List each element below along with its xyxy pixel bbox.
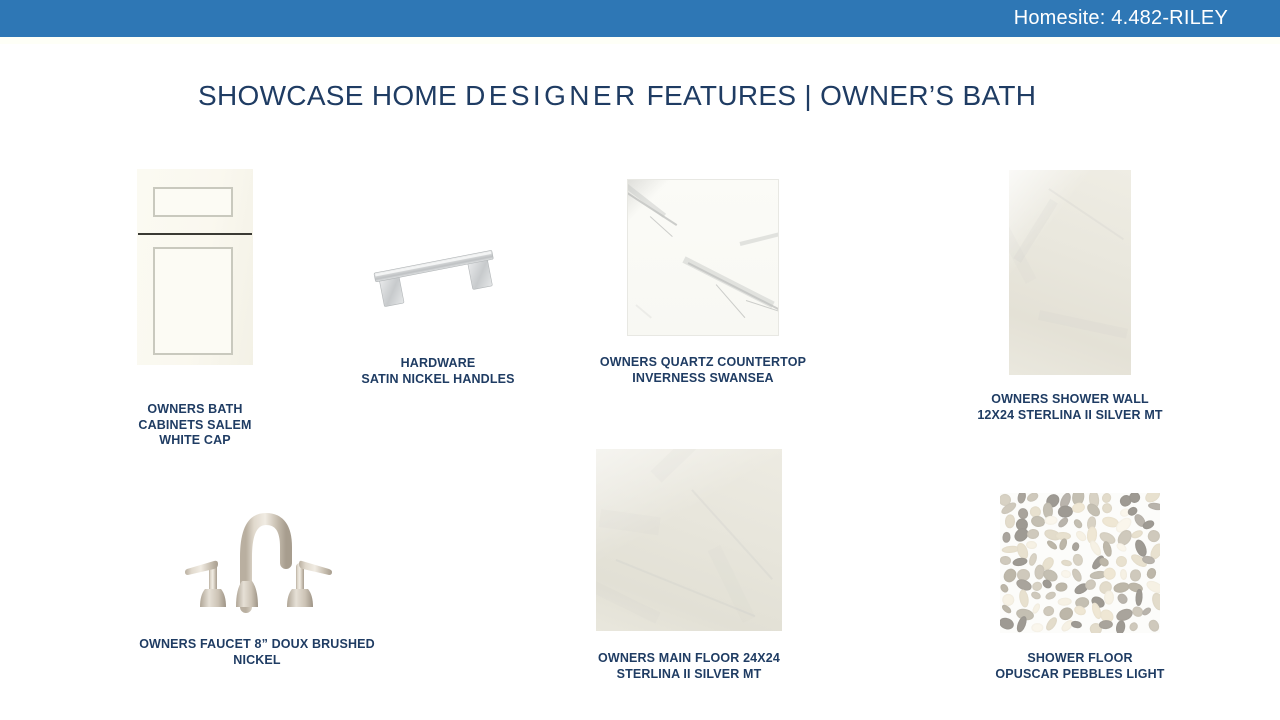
pebble-stone [1102, 565, 1119, 582]
product-card-owners-quartz-countertop: OWNERS QUARTZ COUNTERTOP INVERNESS SWANS… [628, 180, 778, 386]
product-caption-shower-floor-pebbles: SHOWER FLOOR OPUSCAR PEBBLES LIGHT [962, 651, 1198, 682]
pebble-stone [1070, 567, 1083, 583]
pebble-stone [1060, 559, 1072, 567]
pebble-stone [1101, 502, 1113, 514]
pebble-stone [1147, 618, 1160, 633]
bar-pull-handle-icon [358, 228, 518, 328]
pebble-stone [1148, 502, 1160, 511]
page-title: SHOWCASE HOME DESIGNER FEATURES | OWNER’… [198, 80, 1036, 112]
pebble-stone [1001, 532, 1010, 543]
pebble-stone [1014, 615, 1028, 633]
pebble-stone [1072, 553, 1084, 567]
product-caption-hardware-handles: HARDWARE SATIN NICKEL HANDLES [356, 356, 520, 387]
page-title-part-designer: DESIGNER [465, 80, 638, 111]
product-caption-owners-shower-wall: OWNERS SHOWER WALL 12X24 STERLINA II SIL… [952, 392, 1188, 423]
pebble-stone [1000, 616, 1015, 632]
pebble-stone [1116, 592, 1130, 606]
cabinet-rail-line [138, 233, 252, 235]
product-card-owners-shower-wall: OWNERS SHOWER WALL 12X24 STERLINA II SIL… [1009, 170, 1131, 423]
product-caption-owners-faucet: OWNERS FAUCET 8” DOUX BRUSHED NICKEL [122, 637, 392, 668]
page-title-part-3: FEATURES | OWNER’S BATH [639, 80, 1037, 111]
pebble-stone [1074, 529, 1088, 543]
pebble-stone [1135, 588, 1143, 605]
pebble-stone [1070, 541, 1080, 552]
pebble-stone [1055, 582, 1068, 592]
pebble-stone [1071, 620, 1083, 629]
page-title-part-1: SHOWCASE HOME [198, 80, 465, 111]
homesite-label: Homesite: 4.482-RILEY [1014, 7, 1228, 30]
pebble-stone [1104, 591, 1114, 606]
cabinet-door-panel [153, 247, 233, 355]
pebble-stone [1026, 528, 1040, 540]
floor-tile-swatch-icon [596, 449, 782, 631]
pebble-stone [1114, 606, 1134, 623]
quartz-slab-swatch-icon [628, 180, 778, 335]
pebble-stone [1028, 552, 1038, 566]
pebble-stone [1129, 569, 1142, 582]
slide-canvas: Homesite: 4.482-RILEY SHOWCASE HOME DESI… [0, 0, 1280, 720]
wall-tile-swatch-icon [1009, 170, 1131, 375]
pebble-stone [1030, 515, 1046, 529]
pebble-stone [1018, 588, 1030, 607]
pebble-stone [1141, 606, 1152, 617]
pebble-stone [1128, 621, 1140, 633]
pebble-stone [1057, 597, 1071, 605]
pebble-stone [1044, 590, 1057, 601]
pebble-stone [1145, 567, 1157, 580]
pebble-mosaic-swatch-icon [1000, 493, 1160, 633]
pebble-stone [1016, 493, 1027, 505]
pebble-stone [1119, 568, 1127, 580]
pebble-stone [1030, 590, 1042, 600]
pebble-stone [1026, 493, 1040, 504]
pebble-stone [1057, 515, 1071, 529]
product-card-shower-floor-pebbles: SHOWER FLOOR OPUSCAR PEBBLES LIGHT [1000, 493, 1160, 682]
product-caption-owners-main-floor: OWNERS MAIN FLOOR 24X24 STERLINA II SILV… [574, 651, 804, 682]
pebble-stone [1000, 556, 1011, 566]
product-card-owners-bath-cabinets: OWNERS BATH CABINETS SALEM WHITE CAP [133, 169, 257, 449]
pebble-stone [1031, 623, 1043, 633]
pebble-stone [1004, 514, 1015, 528]
product-caption-owners-quartz-countertop: OWNERS QUARTZ COUNTERTOP INVERNESS SWANS… [588, 355, 818, 386]
pebble-stone [1146, 528, 1160, 544]
product-card-hardware-handles: HARDWARE SATIN NICKEL HANDLES [356, 228, 520, 387]
pebble-stone [1044, 615, 1059, 632]
pebble-stone [1000, 582, 1010, 593]
pebble-stone [1045, 539, 1058, 551]
header-accent-strip [0, 37, 1280, 44]
pebble-stone [1042, 605, 1055, 618]
product-card-owners-faucet: OWNERS FAUCET 8” DOUX BRUSHED NICKEL [172, 485, 342, 668]
cabinet-door-swatch-icon [137, 169, 253, 365]
pebble-stone [1130, 529, 1144, 540]
pebble-stone [1072, 517, 1084, 529]
pebble-stone [1012, 557, 1028, 567]
pebble-stone [1114, 554, 1128, 568]
pebble-stone [1116, 619, 1127, 633]
pebble-stone [1045, 515, 1058, 525]
product-caption-owners-bath-cabinets: OWNERS BATH CABINETS SALEM WHITE CAP [133, 402, 257, 449]
product-card-owners-main-floor: OWNERS MAIN FLOOR 24X24 STERLINA II SILV… [596, 449, 782, 682]
widespread-faucet-icon [172, 485, 342, 615]
pebble-stone [1057, 605, 1075, 623]
pebble-stone [1071, 502, 1086, 515]
pebble-stone [1060, 569, 1072, 579]
cabinet-drawer-front [153, 187, 233, 217]
